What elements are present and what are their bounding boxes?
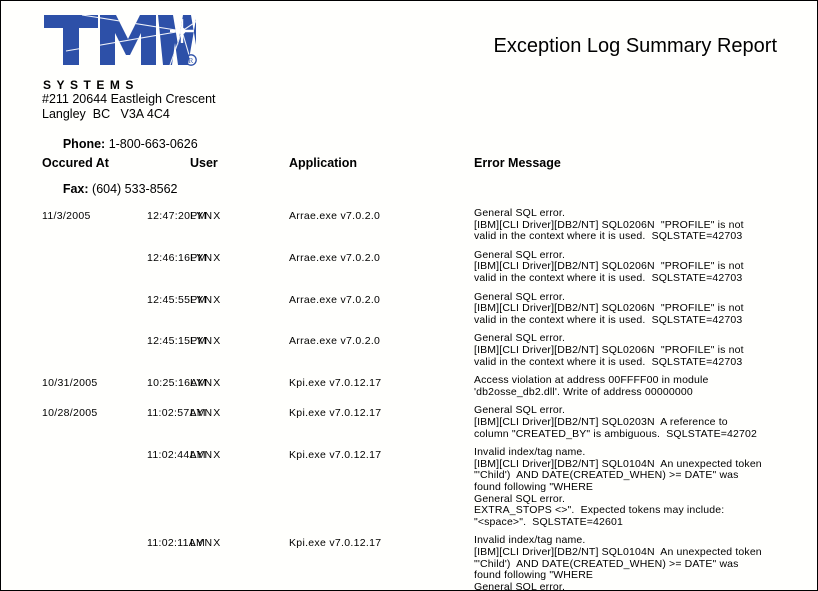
cell-user: LYNX (190, 210, 221, 222)
tmw-logo-graphic: R (42, 13, 197, 71)
column-header-occured-at: Occured At (42, 156, 109, 170)
cell-application: Kpi.exe v7.0.12.17 (289, 407, 381, 419)
cell-user: LYNX (190, 407, 221, 419)
cell-application: Arrae.exe v7.0.2.0 (289, 294, 380, 306)
tmw-logo: R (42, 13, 197, 71)
cell-occured-date: 10/31/2005 (42, 377, 98, 389)
cell-user: LYNX (190, 294, 221, 306)
error-message-line: found following "WHERE (474, 482, 814, 494)
error-message-line: valid in the context where it is used. S… (474, 231, 814, 243)
cell-error-message: General SQL error.[IBM][CLI Driver][DB2/… (474, 333, 814, 368)
cell-application: Arrae.exe v7.0.2.0 (289, 210, 380, 222)
error-message-line: valid in the context where it is used. S… (474, 315, 814, 327)
error-message-line: EXTRA_STOPS <>". Expected tokens may inc… (474, 505, 814, 517)
cell-user: LYNX (190, 449, 221, 461)
error-message-line: [IBM][CLI Driver][DB2/NT] SQL0104N An un… (474, 547, 814, 559)
cell-error-message: General SQL error.[IBM][CLI Driver][DB2/… (474, 405, 814, 440)
cell-error-message: General SQL error.[IBM][CLI Driver][DB2/… (474, 250, 814, 285)
table-body: 11/3/200512:47:20PMLYNXArrae.exe v7.0.2.… (42, 182, 809, 591)
error-message-line: column "CREATED_BY" is ambiguous. SQLSTA… (474, 429, 814, 441)
company-address-line-1: #211 20644 Eastleigh Crescent (42, 92, 302, 107)
cell-user: LYNX (190, 252, 221, 264)
company-tagline: SYSTEMS (43, 78, 302, 92)
error-message-line: valid in the context where it is used. S… (474, 273, 814, 285)
table-header-row: Occured At User Application Error Messag… (42, 156, 809, 182)
exception-log-table: Occured At User Application Error Messag… (42, 156, 809, 591)
cell-error-message: Invalid index/tag name.[IBM][CLI Driver]… (474, 535, 814, 591)
cell-occured-date: 10/28/2005 (42, 407, 98, 419)
error-message-line: 'db2osse_db2.dll'. Write of address 0000… (474, 387, 814, 399)
page-title: Exception Log Summary Report (494, 35, 777, 58)
error-message-line: valid in the context where it is used. S… (474, 357, 814, 369)
registered-trademark-letter: R (189, 57, 194, 65)
error-message-line: General SQL error. (474, 208, 814, 220)
error-message-line: [IBM][CLI Driver][DB2/NT] SQL0206N "PROF… (474, 345, 814, 357)
cell-user: LYNX (190, 377, 221, 389)
column-header-error-message: Error Message (474, 156, 561, 170)
error-message-line: General SQL error. (474, 582, 814, 591)
cell-error-message: Access violation at address 00FFFF00 in … (474, 375, 814, 398)
cell-application: Kpi.exe v7.0.12.17 (289, 449, 381, 461)
cell-application: Arrae.exe v7.0.2.0 (289, 252, 380, 264)
cell-application: Arrae.exe v7.0.2.0 (289, 335, 380, 347)
cell-application: Kpi.exe v7.0.12.17 (289, 537, 381, 549)
report-page: R SYSTEMS #211 20644 Eastleigh Crescent … (0, 0, 818, 591)
cell-application: Kpi.exe v7.0.12.17 (289, 377, 381, 389)
cell-user: LYNX (190, 537, 221, 549)
cell-error-message: Invalid index/tag name.[IBM][CLI Driver]… (474, 447, 814, 528)
error-message-line: [IBM][CLI Driver][DB2/NT] SQL0203N A ref… (474, 417, 814, 429)
cell-error-message: General SQL error.[IBM][CLI Driver][DB2/… (474, 208, 814, 243)
cell-error-message: General SQL error.[IBM][CLI Driver][DB2/… (474, 292, 814, 327)
company-phone-number: 1-800-663-0626 (109, 137, 198, 151)
company-address-line-2: Langley BC V3A 4C4 (42, 107, 302, 122)
cell-user: LYNX (190, 335, 221, 347)
company-phone-label: Phone: (63, 137, 105, 151)
error-message-line: "<space>". SQLSTATE=42601 (474, 517, 814, 529)
column-header-application: Application (289, 156, 357, 170)
cell-occured-date: 11/3/2005 (42, 210, 91, 222)
column-header-user: User (190, 156, 218, 170)
